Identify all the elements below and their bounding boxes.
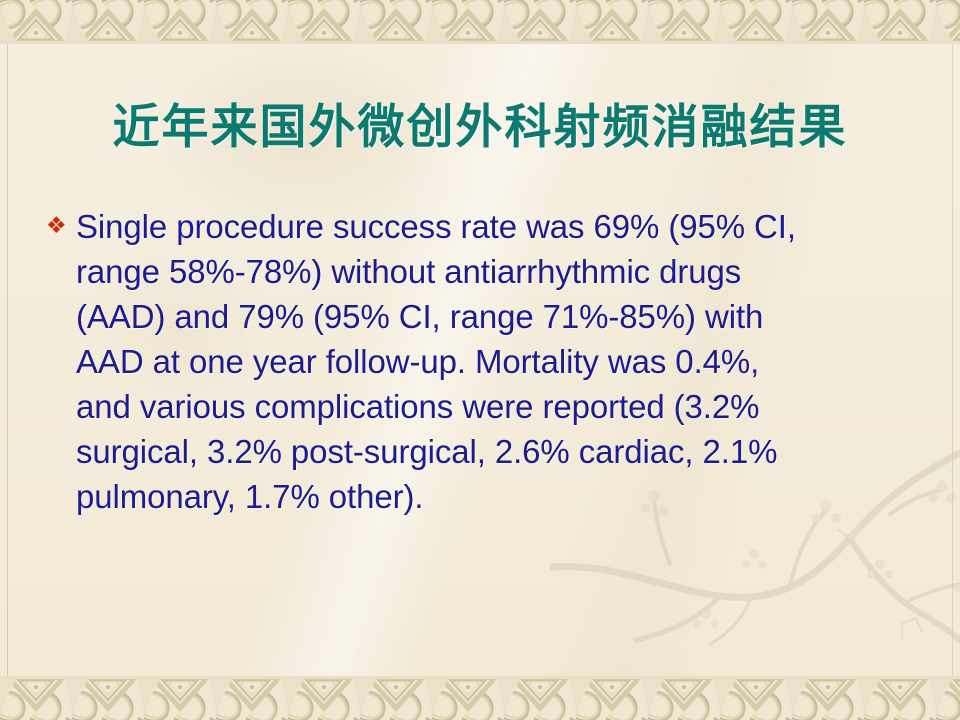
bottom-decorative-border <box>0 676 960 720</box>
bullet-paragraph: Single procedure success rate was 69% (9… <box>76 204 926 519</box>
body-line: pulmonary, 1.7% other). <box>76 474 926 519</box>
body-line: range 58%-78%) without antiarrhythmic dr… <box>76 249 926 294</box>
bullet-diamond-icon: ❖ <box>46 204 76 249</box>
bullet-list-item: ❖ Single procedure success rate was 69% … <box>46 204 926 519</box>
body-line: surgical, 3.2% post-surgical, 2.6% cardi… <box>76 429 926 474</box>
slide-title: 近年来国外微创外科射频消融结果 <box>0 88 960 157</box>
body-line: and various complications were reported … <box>76 384 926 429</box>
body-line: Single procedure success rate was 69% (9… <box>76 204 926 249</box>
slide-body: ❖ Single procedure success rate was 69% … <box>46 204 926 519</box>
body-line: AAD at one year follow-up. Mortality was… <box>76 339 926 384</box>
body-line: (AAD) and 79% (95% CI, range 71%-85%) wi… <box>76 294 926 339</box>
slide-canvas: 近年来国外微创外科射频消融结果 ❖ Single procedure succe… <box>0 0 960 720</box>
top-decorative-border <box>0 0 960 44</box>
